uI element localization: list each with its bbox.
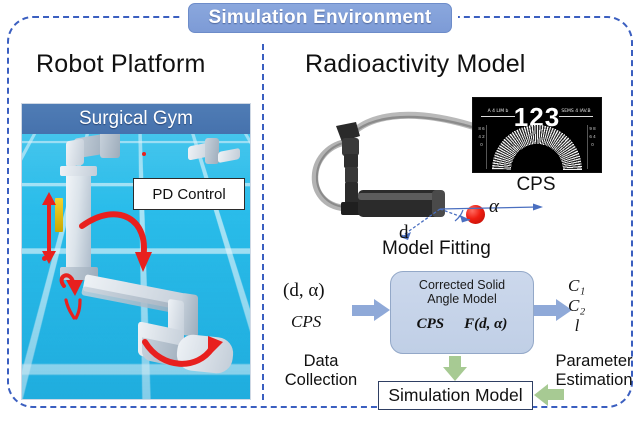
flow-arrow-output — [534, 299, 572, 321]
rotation-arrow-joint2-path — [145, 342, 212, 364]
probe-joint-lower — [345, 182, 358, 204]
figure-title-badge: Simulation Environment — [188, 3, 452, 33]
radioactive-source-dot — [466, 205, 485, 224]
probe-svg — [300, 98, 480, 230]
flow-output-parameters: C₁ C₂ l — [568, 276, 586, 336]
probe-cable-upper — [344, 115, 472, 144]
block-equation-lhs: CPS — [417, 316, 445, 332]
angle-label-alpha: α — [489, 196, 499, 218]
right-panel-heading: Radioactivity Model — [305, 50, 526, 79]
flow-input-primary: (d, α) — [283, 280, 325, 302]
corrected-solid-angle-block: Corrected Solid Angle Model CPSF(d, α) — [390, 271, 534, 354]
output-param-l: l — [568, 316, 586, 336]
probe-connector-body — [342, 138, 359, 156]
probe-cable-loop — [315, 142, 346, 208]
radiation-probe-illustration — [300, 98, 480, 230]
surgical-gym-viewport: Surgical Gym — [22, 104, 250, 399]
meter-scale-left: 8 6 4 2 0 — [477, 125, 487, 169]
probe-joint-upper — [344, 154, 358, 168]
output-param-c2: C₂ — [568, 296, 586, 316]
block-title-line1: Corrected Solid — [391, 278, 533, 292]
pd-control-label: PD Control — [133, 178, 245, 210]
model-fitting-label: Model Fitting — [382, 238, 491, 260]
rotation-arrow-joint1-head — [135, 252, 152, 272]
gripper-tine-left — [66, 300, 74, 318]
parameter-estimation-line1: Parameter — [550, 352, 638, 371]
meter-gauge-arc — [491, 124, 583, 170]
left-panel-heading: Robot Platform — [36, 50, 206, 79]
cps-meter-display: A 4 LIM b SEMS 4 IAV.B 123 8 6 4 2 0 9 8… — [472, 97, 602, 173]
rotation-arrow-joint2-head — [208, 336, 223, 357]
block-equation: CPSF(d, α) — [391, 316, 533, 333]
flow-arrow-left-green — [534, 384, 564, 406]
gripper-tine-right — [76, 300, 80, 318]
detector-barrel-highlight — [358, 193, 444, 200]
figure-root: Simulation Environment Robot Platform Ra… — [0, 0, 640, 422]
data-collection-line2: Collection — [277, 371, 365, 390]
flow-arrow-input — [352, 299, 390, 321]
cps-meter-caption: CPS — [472, 174, 600, 196]
panel-divider — [262, 44, 264, 400]
rotation-arrow-small-head — [66, 280, 83, 296]
block-equation-rhs: F(d, α) — [464, 316, 507, 332]
simulation-model-box: Simulation Model — [378, 381, 533, 410]
detector-tip — [432, 190, 445, 217]
probe-cable-upper-shade — [344, 117, 472, 144]
data-collection-caption: Data Collection — [277, 352, 365, 390]
data-collection-line1: Data — [277, 352, 365, 371]
block-title-line2: Angle Model — [391, 292, 533, 306]
flow-arrow-down-green — [443, 356, 467, 380]
probe-joint-mid — [345, 167, 358, 183]
surgical-gym-title: Surgical Gym — [22, 104, 250, 134]
meter-gauge-ticks — [491, 124, 583, 170]
flow-input-secondary: CPS — [291, 312, 321, 332]
rotation-arrow-joint1-path — [82, 214, 144, 258]
output-param-c1: C₁ — [568, 276, 586, 296]
meter-scale-right: 9 8 6 4 0 — [587, 125, 597, 169]
rotation-arrows-layer — [22, 104, 250, 399]
